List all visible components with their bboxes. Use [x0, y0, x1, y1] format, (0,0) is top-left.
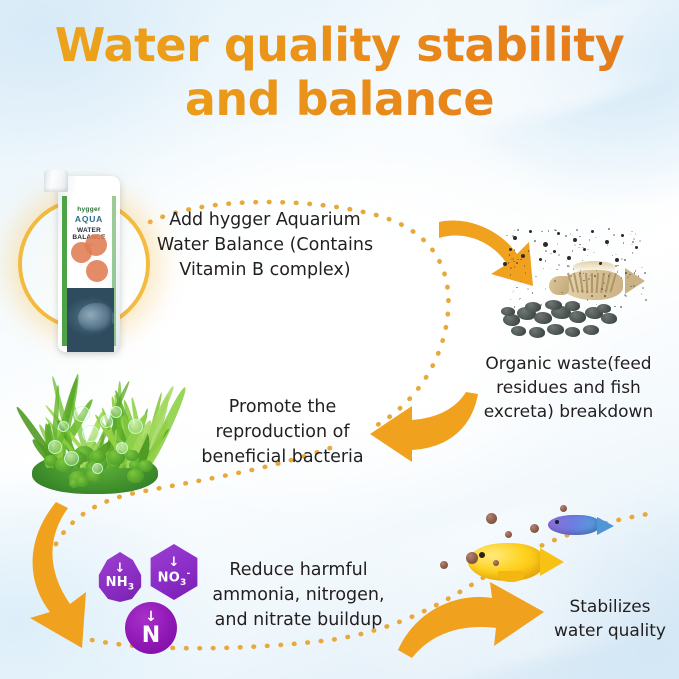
- product-bottle: hygger AQUA WATER BALANCE 500ml: [24, 170, 154, 355]
- waste-particle: [543, 242, 548, 247]
- waste-particle: [615, 258, 619, 262]
- waste-dust: [589, 239, 591, 241]
- waste-dust: [593, 252, 595, 254]
- food-pellet: [505, 531, 512, 538]
- waste-dust: [625, 272, 627, 274]
- label-badge: [85, 234, 107, 256]
- molecule-label: NH3: [106, 576, 135, 593]
- organic-waste-illustration: [495, 228, 665, 348]
- food-pellet: [530, 524, 539, 533]
- waste-dust: [520, 259, 522, 261]
- molecule-label: N: [142, 625, 161, 647]
- waste-dust: [566, 260, 568, 262]
- waste-dust: [641, 267, 643, 269]
- purple-fish-icon: [548, 513, 614, 539]
- waste-dust: [595, 237, 597, 239]
- waste-dust: [587, 249, 589, 251]
- waste-pellet: [601, 313, 617, 324]
- waste-dust: [517, 259, 519, 261]
- food-pellet: [493, 560, 499, 566]
- waste-dust: [587, 299, 589, 301]
- waste-dust: [565, 235, 567, 237]
- fish-skeleton-icon: [547, 264, 643, 308]
- waste-dust: [579, 272, 581, 274]
- waste-dust: [527, 288, 529, 290]
- oxygen-bubble: [64, 451, 79, 466]
- waste-dust: [513, 261, 515, 263]
- skeleton-head: [549, 276, 569, 295]
- waste-pellet: [511, 326, 526, 336]
- waste-dust: [617, 271, 619, 273]
- food-pellet: [466, 552, 478, 564]
- waste-particle: [567, 256, 571, 260]
- waste-dust: [510, 299, 512, 301]
- waste-dust: [623, 242, 625, 244]
- oxygen-bubble: [48, 440, 62, 454]
- fish-body: [548, 515, 600, 535]
- waste-dust: [582, 247, 584, 249]
- waste-dust: [576, 229, 578, 231]
- waste-pellets: [501, 304, 631, 344]
- waste-pellet: [569, 311, 586, 323]
- fish-tail: [540, 548, 564, 576]
- fish-fin: [498, 571, 524, 582]
- bottle-label: hygger AQUA WATER BALANCE 500ml: [67, 196, 111, 288]
- waste-pellet: [501, 307, 515, 316]
- waste-dust: [534, 240, 536, 242]
- food-pellet: [560, 505, 567, 512]
- waste-dust: [588, 278, 590, 280]
- waste-dust: [512, 235, 514, 237]
- waste-dust: [624, 259, 626, 261]
- curved-arrow-right-icon: [396, 580, 546, 660]
- oxygen-bubble: [128, 419, 143, 434]
- waste-dust: [612, 255, 614, 257]
- brand-name: hygger: [67, 206, 111, 213]
- waste-dust: [574, 244, 576, 246]
- waste-dust: [514, 230, 516, 232]
- bottle-photo: [67, 288, 114, 352]
- waste-dust: [620, 306, 622, 308]
- step-text-organic-waste: Organic waste(feed residues and fish exc…: [466, 352, 671, 424]
- oxygen-bubble: [92, 463, 103, 474]
- waste-dust: [633, 285, 635, 287]
- waste-pellet: [545, 300, 562, 310]
- down-arrow-icon: ↓: [115, 562, 126, 575]
- step-text-promote-bacteria: Promote the reproduction of beneficial b…: [185, 395, 380, 470]
- product-line: AQUA: [67, 214, 111, 224]
- waste-dust: [635, 233, 637, 235]
- waste-particle: [509, 248, 512, 251]
- waste-dust: [555, 230, 557, 232]
- waste-dust: [572, 235, 574, 237]
- molecule-badge-no3: ↓ NO3-: [148, 544, 200, 600]
- waste-dust: [525, 272, 527, 274]
- food-pellet: [440, 561, 448, 569]
- waste-dust: [613, 234, 615, 236]
- waste-dust: [642, 287, 644, 289]
- waste-dust: [604, 295, 606, 297]
- waste-dust: [535, 276, 537, 278]
- waste-particle: [529, 230, 532, 233]
- waste-dust: [543, 268, 545, 270]
- molecule-badge-n: ↓ N: [125, 602, 177, 654]
- oxygen-bubble: [74, 406, 90, 422]
- waste-dust: [644, 272, 646, 274]
- waste-dust: [594, 275, 596, 277]
- waste-dust: [573, 268, 575, 270]
- waste-pellet: [534, 312, 552, 324]
- waste-dust: [510, 274, 512, 276]
- plant-leaf: [91, 451, 105, 463]
- waste-dust: [625, 295, 627, 297]
- waste-dust: [541, 231, 543, 233]
- waste-particle: [553, 250, 556, 253]
- fish-tail: [597, 517, 614, 535]
- waste-dust: [578, 247, 580, 249]
- waste-dust: [572, 250, 574, 252]
- waste-particle: [521, 254, 525, 258]
- waste-dust: [603, 282, 605, 284]
- bottle-body: hygger AQUA WATER BALANCE 500ml: [58, 176, 120, 352]
- waste-dust: [545, 260, 547, 262]
- waste-dust: [516, 262, 518, 264]
- waste-dust: [632, 241, 634, 243]
- plant-leaf: [138, 460, 153, 473]
- waste-dust: [607, 244, 609, 246]
- waste-particle: [591, 230, 594, 233]
- waste-dust: [514, 249, 516, 251]
- waste-dust: [516, 287, 518, 289]
- curved-arrow-left-icon: [368, 392, 480, 464]
- waste-dust: [639, 240, 641, 242]
- oxygen-bubble: [58, 421, 69, 432]
- down-arrow-icon: ↓: [169, 556, 180, 569]
- step-text-stabilize-water: Stabilizes water quality: [540, 595, 679, 643]
- waste-dust: [608, 228, 610, 230]
- waste-dust: [558, 254, 560, 256]
- waste-dust: [528, 250, 530, 252]
- step-text-add-product: Add hygger Aquarium Water Balance (Conta…: [140, 208, 390, 283]
- waste-dust: [512, 292, 514, 294]
- waste-dust: [586, 291, 588, 293]
- label-badge: [86, 260, 108, 282]
- waste-pellet: [547, 324, 564, 335]
- waste-dust: [630, 234, 632, 236]
- waste-dust: [615, 254, 617, 256]
- discus-fish-icon: [78, 303, 114, 333]
- waste-pellet: [565, 327, 580, 337]
- waste-dust: [581, 290, 583, 292]
- yellow-fish-icon: [468, 540, 564, 584]
- waste-particle: [635, 246, 638, 249]
- plant-leaf: [125, 450, 139, 461]
- waste-dust: [631, 244, 633, 246]
- waste-dust: [633, 238, 635, 240]
- down-arrow-icon: ↓: [145, 610, 157, 624]
- waste-particle: [583, 248, 586, 251]
- waste-dust: [509, 254, 511, 256]
- oxygen-bubble: [100, 415, 113, 428]
- waste-dust: [524, 265, 526, 267]
- waste-dust: [550, 253, 552, 255]
- waste-dust: [603, 273, 605, 275]
- fish-eye: [555, 520, 559, 524]
- waste-dust: [540, 304, 542, 306]
- waste-dust: [570, 275, 572, 277]
- waste-dust: [510, 267, 512, 269]
- bottle-cap: [44, 170, 68, 192]
- waste-pellet: [529, 327, 545, 338]
- oxygen-bubble: [116, 442, 128, 454]
- waste-dust: [627, 276, 629, 278]
- fish-eye: [479, 552, 485, 558]
- waste-dust: [545, 288, 547, 290]
- waste-dust: [545, 250, 547, 252]
- molecule-label: NO3-: [158, 570, 191, 588]
- waste-dust: [513, 290, 515, 292]
- waste-dust: [513, 258, 515, 260]
- waste-dust: [579, 236, 581, 238]
- infographic-canvas: Water quality stability and balance hygg…: [0, 0, 679, 679]
- waste-dust: [621, 277, 623, 279]
- waste-pellet: [525, 302, 541, 312]
- waste-dust: [645, 299, 647, 301]
- waste-dust: [579, 244, 581, 246]
- waste-dust: [517, 229, 519, 231]
- waste-dust: [520, 281, 522, 283]
- waste-pellet: [583, 325, 599, 335]
- food-pellet: [486, 513, 497, 524]
- waste-dust: [548, 230, 550, 232]
- waste-dust: [558, 264, 560, 266]
- oxygen-bubble: [82, 425, 99, 442]
- waste-dust: [608, 275, 610, 277]
- waste-pellet: [565, 301, 580, 311]
- aquatic-plants-illustration: [24, 362, 169, 494]
- waste-dust: [506, 235, 508, 237]
- waste-dust: [514, 266, 516, 268]
- waste-particle: [621, 234, 624, 237]
- waste-dust: [557, 243, 559, 245]
- waste-dust: [511, 258, 513, 260]
- waste-dust: [591, 295, 593, 297]
- waste-dust: [601, 288, 603, 290]
- waste-particle: [539, 258, 542, 261]
- waste-pellet: [597, 304, 611, 313]
- waste-particle: [503, 262, 507, 266]
- waste-dust: [601, 262, 603, 264]
- waste-dust: [532, 292, 534, 294]
- oxygen-bubble: [110, 406, 122, 418]
- waste-dust: [632, 252, 634, 254]
- waste-dust: [631, 231, 633, 233]
- waste-particle: [557, 232, 560, 235]
- skeleton-rib: [591, 273, 593, 293]
- step-text-reduce-ammonia: Reduce harmful ammonia, nitrogen, and ni…: [196, 558, 401, 633]
- page-title: Water quality stability and balance: [0, 18, 679, 127]
- waste-dust: [554, 280, 556, 282]
- waste-dust: [621, 258, 623, 260]
- waste-dust: [567, 265, 569, 267]
- waste-dust: [587, 255, 589, 257]
- waste-dust: [508, 262, 510, 264]
